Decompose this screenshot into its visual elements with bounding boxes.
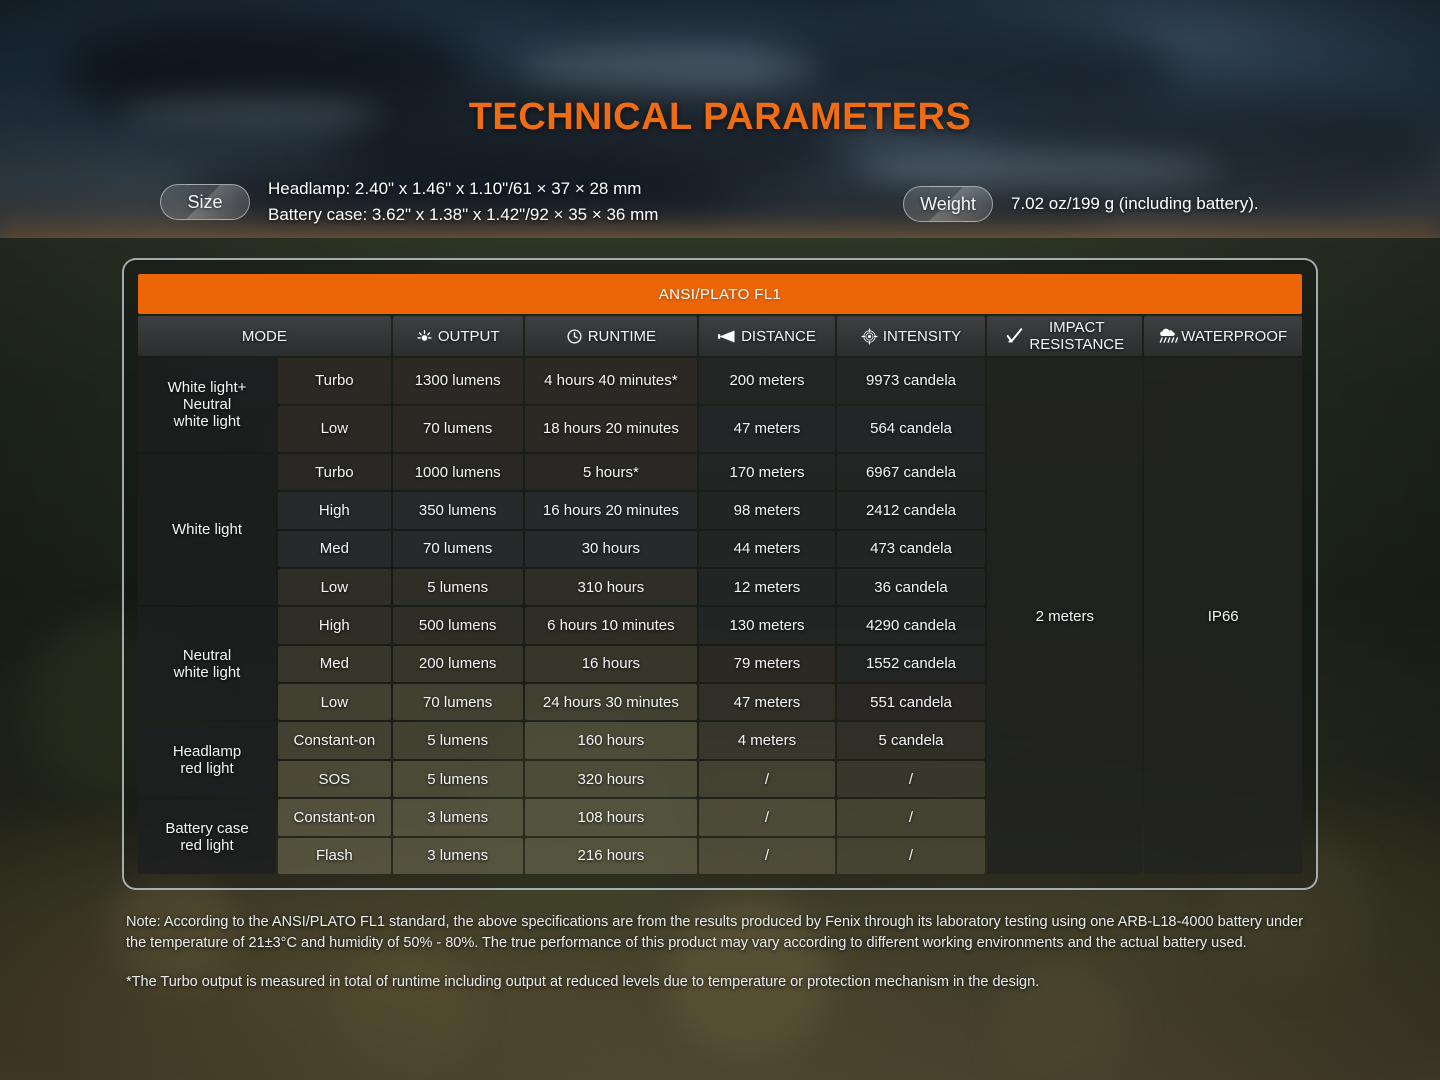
weight-spec: Weight 7.02 oz/199 g (including battery)…: [903, 186, 1259, 222]
cell-mode: High: [278, 607, 391, 643]
table-banner-row: ANSI/PLATO FL1: [138, 274, 1302, 314]
cell-output: 70 lumens: [393, 531, 523, 567]
note-turbo-output: *The Turbo output is measured in total o…: [126, 972, 1316, 993]
size-spec-text: Headlamp: 2.40" x 1.46" x 1.10"/61 × 37 …: [268, 176, 658, 228]
group-label-1: White light: [138, 454, 276, 606]
column-header-output: OUTPUT: [393, 316, 523, 356]
size-spec: Size Headlamp: 2.40" x 1.46" x 1.10"/61 …: [160, 176, 658, 228]
impact-label-line1: IMPACT: [1049, 319, 1105, 336]
cell-intensity: 6967 candela: [837, 454, 985, 490]
check-drop-icon: [1005, 327, 1024, 345]
cell-mode: High: [278, 492, 391, 528]
column-header-runtime: RUNTIME: [525, 316, 698, 356]
cell-mode: Med: [278, 531, 391, 567]
table-header-row: MODE: [138, 316, 1302, 356]
cell-mode: SOS: [278, 761, 391, 797]
specifications-panel: ANSI/PLATO FL1 MODE: [122, 258, 1318, 890]
impact-label-line2: RESISTANCE: [1029, 336, 1124, 353]
cell-distance: /: [699, 838, 835, 874]
cell-mode: Constant-on: [278, 799, 391, 835]
cell-output: 1300 lumens: [393, 358, 523, 404]
group-label-0-l1: White light+: [168, 379, 247, 396]
column-header-intensity-label: INTENSITY: [883, 328, 961, 345]
cell-output: 1000 lumens: [393, 454, 523, 490]
column-header-waterproof: WATERPROOF: [1144, 316, 1302, 356]
sunburst-icon: [416, 328, 433, 345]
column-header-output-label: OUTPUT: [438, 328, 500, 345]
clock-icon: [566, 328, 583, 345]
weight-pill-label: Weight: [903, 186, 993, 222]
specifications-table: ANSI/PLATO FL1 MODE: [136, 272, 1304, 876]
cell-intensity: 9973 candela: [837, 358, 985, 404]
note-ansi-standard: Note: According to the ANSI/PLATO FL1 st…: [126, 912, 1316, 954]
cell-distance: 44 meters: [699, 531, 835, 567]
cell-distance: 47 meters: [699, 406, 835, 452]
cell-runtime: 216 hours: [525, 838, 698, 874]
group-label-2-l1: Neutral: [183, 647, 231, 664]
cell-intensity: 2412 candela: [837, 492, 985, 528]
cell-output: 5 lumens: [393, 569, 523, 605]
cell-distance: 12 meters: [699, 569, 835, 605]
cell-output: 200 lumens: [393, 646, 523, 682]
group-label-2: Neutral white light: [138, 607, 276, 720]
group-label-0-l3: white light: [174, 413, 241, 430]
column-header-distance-label: DISTANCE: [741, 328, 816, 345]
size-line-battery-case: Battery case: 3.62" x 1.38" x 1.42"/92 ×…: [268, 202, 658, 228]
cell-intensity: 1552 candela: [837, 646, 985, 682]
cell-distance: /: [699, 761, 835, 797]
cell-intensity: /: [837, 799, 985, 835]
cell-runtime: 4 hours 40 minutes*: [525, 358, 698, 404]
cell-distance: 98 meters: [699, 492, 835, 528]
cell-intensity: 551 candela: [837, 684, 985, 720]
cell-runtime: 24 hours 30 minutes: [525, 684, 698, 720]
cell-output: 500 lumens: [393, 607, 523, 643]
cell-output: 70 lumens: [393, 684, 523, 720]
cell-intensity: 36 candela: [837, 569, 985, 605]
cell-runtime: 16 hours: [525, 646, 698, 682]
cell-mode: Turbo: [278, 358, 391, 404]
cell-mode: Low: [278, 406, 391, 452]
weight-spec-text: 7.02 oz/199 g (including battery).: [1011, 191, 1259, 217]
group-label-4-l1: Battery case: [165, 820, 248, 837]
cell-mode: Turbo: [278, 454, 391, 490]
cell-intensity: /: [837, 761, 985, 797]
column-header-intensity: INTENSITY: [837, 316, 985, 356]
cell-mode: Constant-on: [278, 722, 391, 758]
column-header-impact-resistance-label: IMPACT RESISTANCE: [1029, 319, 1124, 353]
column-header-impact-resistance: IMPACT RESISTANCE: [987, 316, 1142, 356]
group-label-0: White light+ Neutral white light: [138, 358, 276, 452]
column-header-mode-label: MODE: [242, 328, 287, 345]
cell-runtime: 30 hours: [525, 531, 698, 567]
cell-runtime: 108 hours: [525, 799, 698, 835]
group-label-3-l1: Headlamp: [173, 743, 241, 760]
group-label-2-l2: white light: [174, 664, 241, 681]
cell-output: 3 lumens: [393, 838, 523, 874]
page-title: TECHNICAL PARAMETERS: [0, 96, 1440, 139]
group-label-4-l2: red light: [180, 837, 233, 854]
table-row: White light+ Neutral white light Turbo 1…: [138, 358, 1302, 404]
cell-intensity: 5 candela: [837, 722, 985, 758]
cell-impact-resistance: 2 meters: [987, 358, 1142, 874]
footnotes: Note: According to the ANSI/PLATO FL1 st…: [126, 912, 1316, 993]
cell-mode: Med: [278, 646, 391, 682]
cell-output: 5 lumens: [393, 761, 523, 797]
size-pill-label: Size: [160, 184, 250, 220]
group-label-0-l2: Neutral: [183, 396, 231, 413]
ansi-plato-banner: ANSI/PLATO FL1: [138, 274, 1302, 314]
cell-runtime: 5 hours*: [525, 454, 698, 490]
cell-runtime: 160 hours: [525, 722, 698, 758]
cell-intensity: 473 candela: [837, 531, 985, 567]
cell-output: 70 lumens: [393, 406, 523, 452]
cell-distance: 4 meters: [699, 722, 835, 758]
cell-waterproof: IP66: [1144, 358, 1302, 874]
group-label-3-l2: red light: [180, 760, 233, 777]
cell-intensity: /: [837, 838, 985, 874]
cell-runtime: 320 hours: [525, 761, 698, 797]
column-header-distance: DISTANCE: [699, 316, 835, 356]
group-label-4: Battery case red light: [138, 799, 276, 874]
cell-runtime: 18 hours 20 minutes: [525, 406, 698, 452]
cell-distance: 47 meters: [699, 684, 835, 720]
cell-mode: Low: [278, 684, 391, 720]
cell-intensity: 564 candela: [837, 406, 985, 452]
cell-runtime: 310 hours: [525, 569, 698, 605]
cell-runtime: 6 hours 10 minutes: [525, 607, 698, 643]
column-header-mode: MODE: [138, 316, 391, 356]
cell-distance: 130 meters: [699, 607, 835, 643]
rain-icon: [1159, 328, 1179, 344]
group-label-3: Headlamp red light: [138, 722, 276, 797]
cell-output: 5 lumens: [393, 722, 523, 758]
size-line-headlamp: Headlamp: 2.40" x 1.46" x 1.10"/61 × 37 …: [268, 176, 658, 202]
cell-runtime: 16 hours 20 minutes: [525, 492, 698, 528]
cell-mode: Low: [278, 569, 391, 605]
cell-distance: /: [699, 799, 835, 835]
cell-distance: 170 meters: [699, 454, 835, 490]
cell-mode: Flash: [278, 838, 391, 874]
cell-output: 3 lumens: [393, 799, 523, 835]
cell-distance: 200 meters: [699, 358, 835, 404]
cell-distance: 79 meters: [699, 646, 835, 682]
beam-icon: [718, 329, 736, 344]
column-header-runtime-label: RUNTIME: [588, 328, 656, 345]
target-icon: [861, 328, 878, 345]
cell-output: 350 lumens: [393, 492, 523, 528]
cell-intensity: 4290 candela: [837, 607, 985, 643]
column-header-waterproof-label: WATERPROOF: [1181, 328, 1287, 345]
